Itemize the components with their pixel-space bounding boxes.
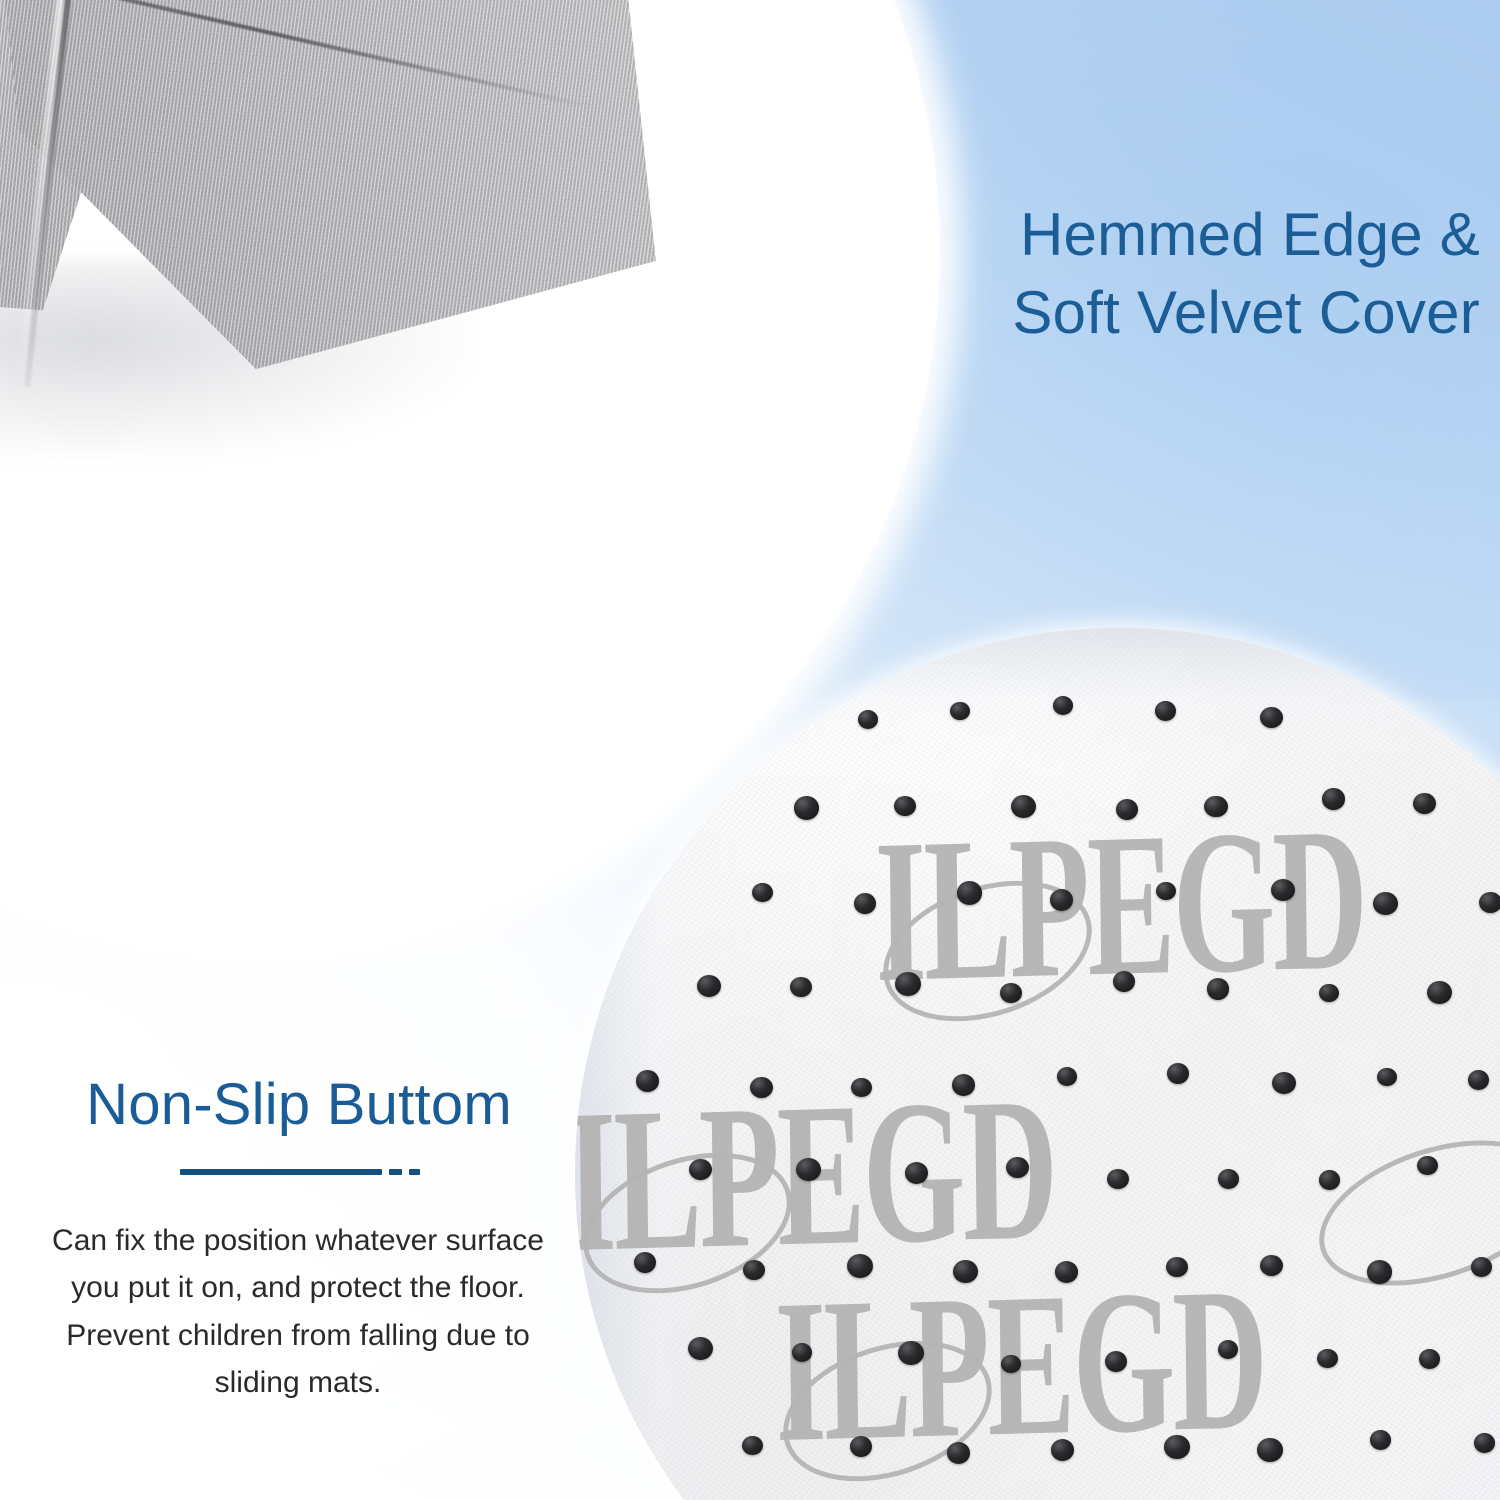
silicone-dot bbox=[1257, 1438, 1282, 1462]
divider-dash bbox=[389, 1169, 402, 1175]
silicone-dot bbox=[1471, 1257, 1492, 1277]
silicone-dot bbox=[1050, 889, 1073, 910]
silicone-dot bbox=[851, 1078, 872, 1097]
feature-description-line: Prevent children from falling due to bbox=[26, 1312, 570, 1359]
silicone-dot bbox=[1155, 701, 1176, 720]
silicone-dot bbox=[905, 1162, 929, 1184]
silicone-dot bbox=[750, 1077, 773, 1098]
headline-line-1: Hemmed Edge & bbox=[940, 196, 1480, 274]
silicone-dot bbox=[794, 796, 819, 819]
silicone-dot bbox=[1413, 793, 1436, 814]
silicone-dot bbox=[952, 1074, 975, 1096]
silicone-dot bbox=[743, 1260, 765, 1280]
silicone-dot bbox=[1051, 1439, 1074, 1461]
silicone-dot bbox=[1260, 707, 1283, 728]
feature-text-block: Non-Slip Buttom Can fix the position wha… bbox=[14, 1076, 570, 1407]
silicone-dot bbox=[752, 883, 772, 902]
silicone-dot bbox=[742, 1436, 763, 1455]
silicone-dot bbox=[895, 972, 921, 996]
silicone-dot bbox=[1427, 981, 1452, 1004]
silicone-dot bbox=[1468, 1070, 1489, 1090]
silicone-dot bbox=[689, 1159, 712, 1180]
mat-photo-circle: ILPEGD ILPEGD ILPEGD bbox=[575, 628, 1500, 1500]
silicone-dot bbox=[1055, 1261, 1078, 1283]
silicone-dot bbox=[894, 796, 916, 816]
silicone-dot bbox=[1419, 1349, 1440, 1369]
silicone-dot bbox=[1006, 1157, 1029, 1178]
silicone-dot bbox=[950, 702, 969, 720]
divider bbox=[14, 1169, 570, 1175]
feature-description: Can fix the position whatever surface yo… bbox=[14, 1217, 570, 1407]
silicone-dot bbox=[1000, 983, 1021, 1003]
silicone-dot bbox=[1164, 1435, 1189, 1459]
silicone-dot bbox=[1218, 1169, 1239, 1189]
silicone-dot bbox=[1272, 1072, 1296, 1094]
silicone-dot bbox=[1207, 978, 1230, 999]
silicone-dot bbox=[796, 1158, 821, 1181]
feature-description-line: you put it on, and protect the floor. bbox=[26, 1264, 570, 1311]
silicone-dot bbox=[858, 710, 878, 729]
divider-line bbox=[180, 1169, 382, 1175]
silicone-dot bbox=[1377, 1068, 1396, 1086]
silicone-dot bbox=[1107, 1169, 1129, 1189]
silicone-dot bbox=[1271, 879, 1295, 901]
silicone-dot bbox=[1204, 796, 1227, 817]
silicone-dot bbox=[1053, 696, 1073, 715]
silicone-dot bbox=[1319, 1170, 1340, 1189]
feature-description-line: sliding mats. bbox=[26, 1359, 570, 1406]
silicone-dot bbox=[953, 1260, 977, 1283]
headline: Hemmed Edge & Soft Velvet Cover bbox=[940, 196, 1480, 352]
product-feature-image: Hemmed Edge & Soft Velvet Cover ILPEGD I… bbox=[0, 0, 1500, 1500]
silicone-dot bbox=[1322, 788, 1345, 809]
silicone-dot bbox=[1474, 1433, 1495, 1453]
silicone-dot bbox=[1156, 882, 1176, 900]
silicone-dot bbox=[1367, 1260, 1393, 1284]
silicone-dot bbox=[1057, 1067, 1077, 1086]
silicone-dot bbox=[1011, 795, 1036, 818]
feature-title: Non-Slip Buttom bbox=[14, 1076, 570, 1134]
silicone-dot bbox=[1319, 984, 1338, 1002]
headline-line-2: Soft Velvet Cover bbox=[940, 274, 1480, 352]
silicone-dot bbox=[792, 1343, 812, 1361]
silicone-dot bbox=[1479, 892, 1500, 913]
feature-description-line: Can fix the position whatever surface bbox=[26, 1217, 570, 1264]
silicone-dot bbox=[1001, 1355, 1021, 1373]
silicone-dot bbox=[854, 893, 877, 914]
divider-dash bbox=[409, 1169, 420, 1175]
silicone-dot bbox=[847, 1254, 873, 1278]
silicone-dot bbox=[1373, 892, 1398, 915]
silicone-dot bbox=[1116, 799, 1138, 820]
silicone-dot bbox=[636, 1070, 659, 1091]
